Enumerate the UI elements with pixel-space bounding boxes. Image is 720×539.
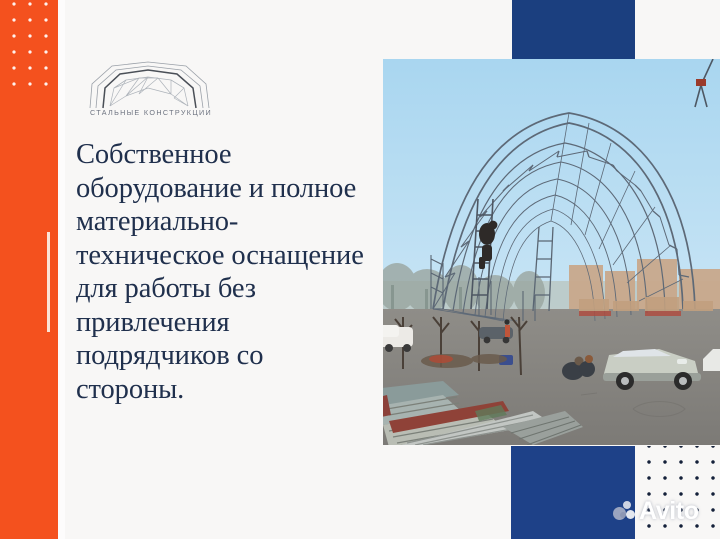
blue-block-top — [512, 0, 635, 59]
logo-wordmark: СТАЛЬНЫЕ КОНСТРУКЦИИ — [86, 108, 216, 117]
orange-side-bar — [0, 0, 58, 539]
headline-text: Собственное оборудование и полное матери… — [76, 138, 376, 406]
steel-arch-truss-icon — [86, 58, 216, 110]
construction-photo — [383, 59, 720, 445]
slide-canvas: СТАЛЬНЫЕ КОНСТРУКЦИИ Собственное оборудо… — [0, 0, 720, 539]
avito-wordmark: Avito — [639, 499, 699, 524]
construction-site-illustration — [383, 59, 720, 445]
orange-tick-mark — [47, 232, 50, 332]
orange-dot-grid — [6, 0, 58, 90]
white-divider — [58, 0, 65, 539]
avito-watermark: Avito — [612, 496, 718, 526]
company-logo: СТАЛЬНЫЕ КОНСТРУКЦИИ — [86, 58, 216, 130]
avito-circles-icon — [612, 500, 638, 522]
